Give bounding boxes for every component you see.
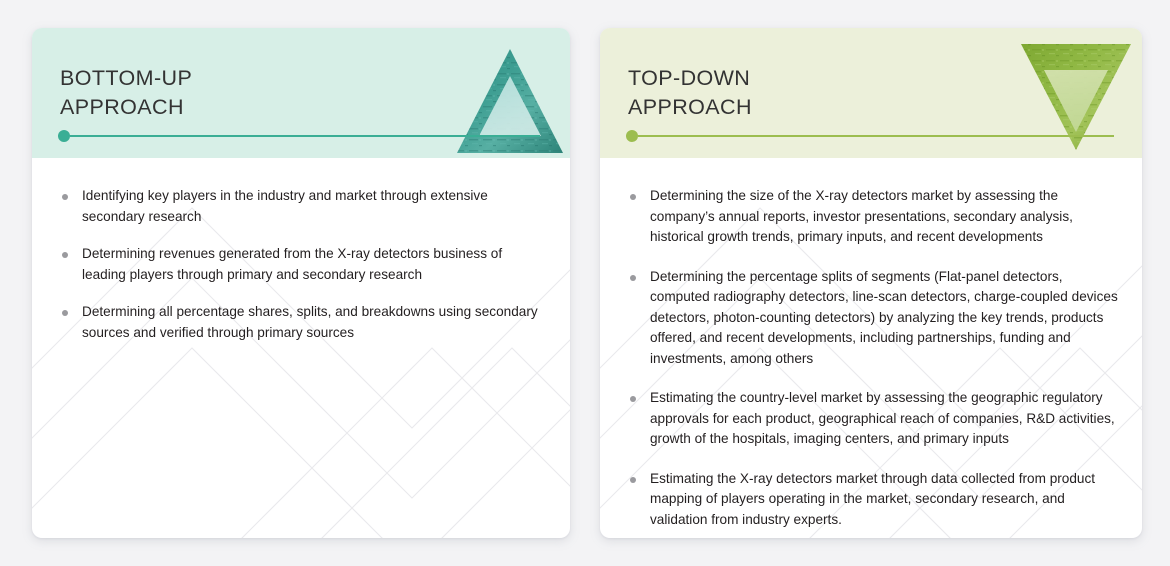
bullet-list-top-down: Determining the size of the X-ray detect…: [622, 186, 1118, 530]
list-item: Determining the percentage splits of seg…: [622, 267, 1118, 370]
list-item: Estimating the country-level market by a…: [622, 388, 1118, 450]
approach-comparison-page: BOTTOM-UP APPROACH Identifying key playe…: [0, 0, 1170, 566]
card-bottom-up-approach: BOTTOM-UP APPROACH Identifying key playe…: [32, 28, 570, 538]
accent-rule-top-down: [626, 130, 1114, 142]
card-body-top-down: Determining the size of the X-ray detect…: [600, 158, 1142, 530]
accent-rule-bottom-up: [58, 130, 540, 142]
accent-line-top-down: [638, 135, 1114, 137]
list-item: Estimating the X-ray detectors market th…: [622, 469, 1118, 531]
cards-container: BOTTOM-UP APPROACH Identifying key playe…: [0, 0, 1170, 566]
list-item: Identifying key players in the industry …: [54, 186, 546, 227]
card-header-bottom-up: BOTTOM-UP APPROACH: [32, 28, 570, 158]
card-body-bottom-up: Identifying key players in the industry …: [32, 158, 570, 343]
card-top-down-approach: TOP-DOWN APPROACH Determining the size o…: [600, 28, 1142, 538]
list-item: Determining the size of the X-ray detect…: [622, 186, 1118, 248]
list-item: Determining all percentage shares, split…: [54, 302, 546, 343]
card-title-top-down: TOP-DOWN APPROACH: [628, 64, 752, 122]
accent-line-bottom-up: [70, 135, 540, 137]
card-title-bottom-up: BOTTOM-UP APPROACH: [60, 64, 192, 122]
accent-dot-bottom-up: [58, 130, 70, 142]
accent-dot-top-down: [626, 130, 638, 142]
list-item: Determining revenues generated from the …: [54, 244, 546, 285]
card-header-top-down: TOP-DOWN APPROACH: [600, 28, 1142, 158]
bullet-list-bottom-up: Identifying key players in the industry …: [54, 186, 546, 343]
